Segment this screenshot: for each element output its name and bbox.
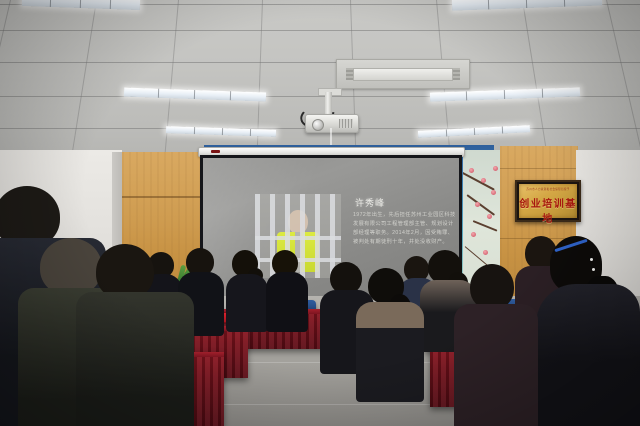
screen-indicator-icon (211, 150, 220, 153)
recessed-fluorescent-light (124, 88, 266, 102)
recessed-fluorescent-light (452, 0, 602, 11)
projector-lens-icon (312, 119, 324, 131)
ceiling (0, 0, 640, 168)
recessed-fluorescent-light (418, 125, 530, 138)
ceiling-projector (305, 114, 359, 133)
plaque-title: 创业培训基地 (519, 195, 577, 225)
slide-title: 许秀峰 (355, 196, 385, 209)
wall-plaque: 苏州市人力资源和社会保障局授予 创业培训基地 (515, 180, 581, 222)
conference-room-photo: 苏州市人力资源和社会保障局授予 创业培训基地 (0, 0, 640, 426)
plaque-subtitle: 苏州市人力资源和社会保障局授予 (519, 187, 577, 191)
projector-vent-icon (339, 119, 353, 128)
slide-photo (255, 194, 341, 278)
slide-body: 1972年出生，先后担任苏州工业园区科技发展有限公司工程管理部主管、规划设计部经… (353, 211, 457, 247)
recessed-fluorescent-light (22, 0, 140, 10)
cassette-air-conditioner (336, 59, 470, 89)
recessed-fluorescent-light (430, 87, 580, 101)
